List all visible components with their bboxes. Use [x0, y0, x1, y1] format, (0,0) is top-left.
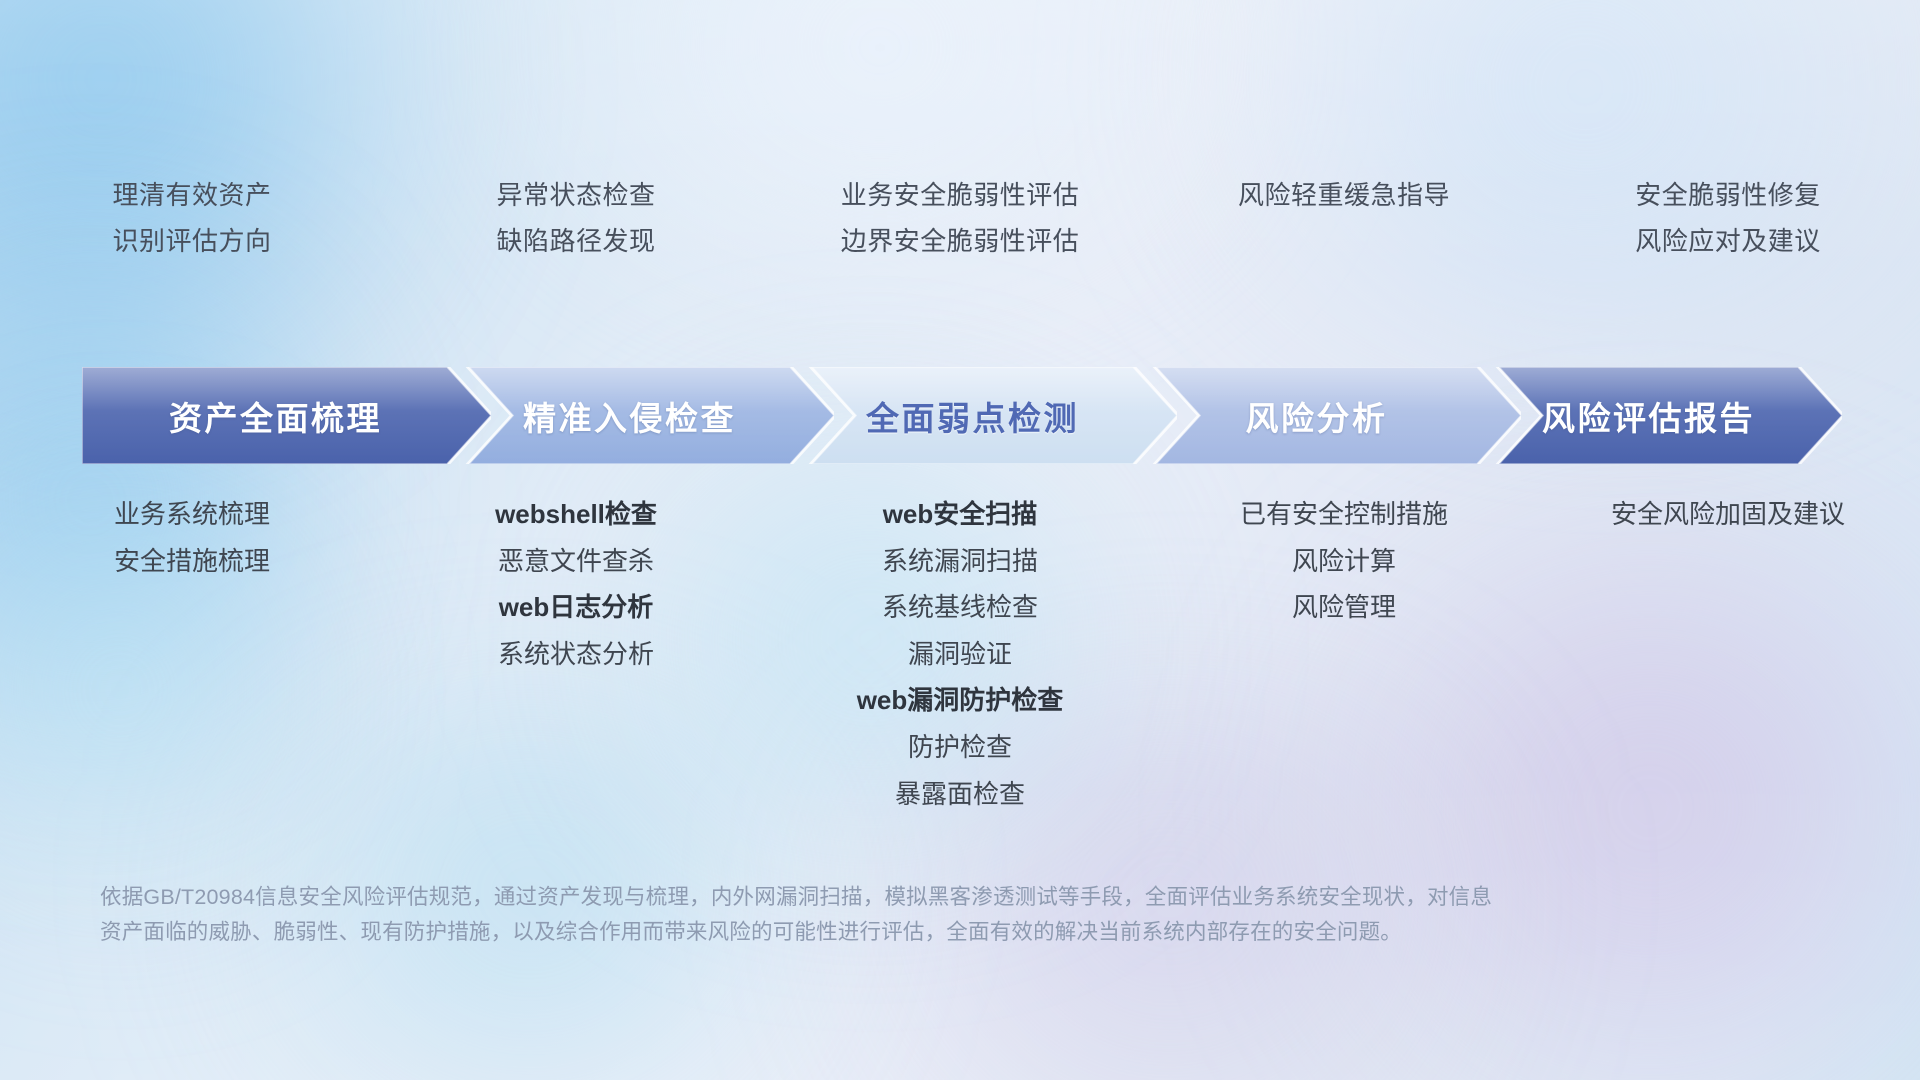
footer-line-1: 依据GB/T20984信息安全风险评估规范，通过资产发现与梳理，内外网漏洞扫描，…	[100, 880, 1660, 915]
top-caption-column-intrusion-check: 异常状态检查缺陷路径发现	[384, 182, 768, 292]
bottom-caption-item: 防护检查	[908, 733, 1012, 762]
bottom-caption-column-assessment-report: 安全风险加固及建议	[1536, 500, 1920, 529]
bottom-caption-item: 恶意文件查杀	[498, 547, 654, 576]
bottom-caption-item: web漏洞防护检查	[857, 686, 1064, 715]
top-caption-column-risk-analysis: 风险轻重缓急指导	[1152, 182, 1536, 292]
top-caption-item: 缺陷路径发现	[496, 228, 655, 254]
bottom-caption-column-risk-analysis: 已有安全控制措施风险计算风险管理	[1152, 500, 1536, 622]
bottom-caption-item: web日志分析	[499, 593, 654, 622]
stage-title: 精准入侵检查	[523, 392, 736, 440]
bottom-caption-column-intrusion-check: webshell检查恶意文件查杀web日志分析系统状态分析	[384, 500, 768, 668]
top-caption-item: 安全脆弱性修复	[1635, 182, 1821, 208]
bottom-caption-item: 安全风险加固及建议	[1611, 500, 1845, 529]
stage-title: 资产全面梳理	[169, 392, 382, 440]
top-caption-item: 异常状态检查	[496, 182, 655, 208]
stage-title: 风险分析	[1246, 392, 1388, 440]
top-caption-item: 业务安全脆弱性评估	[841, 182, 1080, 208]
top-caption-row: 理清有效资产识别评估方向异常状态检查缺陷路径发现业务安全脆弱性评估边界安全脆弱性…	[0, 182, 1920, 292]
top-caption-column-asset-inventory: 理清有效资产识别评估方向	[0, 182, 384, 292]
bottom-caption-column-weakness-detection: web安全扫描系统漏洞扫描系统基线检查漏洞验证web漏洞防护检查防护检查暴露面检…	[768, 500, 1152, 808]
top-caption-item: 理清有效资产	[112, 182, 271, 208]
bottom-caption-item: 安全措施梳理	[114, 547, 270, 576]
top-caption-item: 边界安全脆弱性评估	[841, 228, 1080, 254]
stage-title: 全面弱点检测	[866, 392, 1079, 440]
top-caption-column-weakness-detection: 业务安全脆弱性评估边界安全脆弱性评估	[768, 182, 1152, 292]
bottom-caption-item: 暴露面检查	[895, 780, 1025, 809]
process-diagram: 理清有效资产识别评估方向异常状态检查缺陷路径发现业务安全脆弱性评估边界安全脆弱性…	[0, 0, 1920, 1080]
bottom-caption-item: 业务系统梳理	[114, 500, 270, 529]
bottom-caption-row: 业务系统梳理安全措施梳理webshell检查恶意文件查杀web日志分析系统状态分…	[0, 500, 1920, 808]
footer-line-2: 资产面临的威胁、脆弱性、现有防护措施，以及综合作用而带来风险的可能性进行评估，全…	[100, 915, 1660, 950]
top-caption-column-assessment-report: 安全脆弱性修复风险应对及建议	[1536, 182, 1920, 292]
bottom-caption-item: webshell检查	[495, 500, 657, 529]
bottom-caption-column-asset-inventory: 业务系统梳理安全措施梳理	[0, 500, 384, 575]
stage-chevron-band: 资产全面梳理精准入侵检查全面弱点检测风险分析风险评估报告	[82, 367, 1842, 464]
bottom-caption-item: 系统漏洞扫描	[882, 547, 1038, 576]
bottom-caption-item: 漏洞验证	[908, 640, 1012, 669]
bottom-caption-item: web安全扫描	[883, 500, 1038, 529]
top-caption-item: 识别评估方向	[112, 228, 271, 254]
top-caption-item: 风险应对及建议	[1635, 228, 1821, 254]
bottom-caption-item: 已有安全控制措施	[1240, 500, 1448, 529]
stage-title: 风险评估报告	[1542, 392, 1755, 440]
stage-chevron-asset-inventory[interactable]: 资产全面梳理	[82, 367, 491, 464]
bottom-caption-item: 风险计算	[1292, 547, 1396, 576]
bottom-caption-item: 系统状态分析	[498, 640, 654, 669]
bottom-caption-item: 风险管理	[1292, 593, 1396, 622]
top-caption-item: 风险轻重缓急指导	[1238, 182, 1450, 208]
footer-description: 依据GB/T20984信息安全风险评估规范，通过资产发现与梳理，内外网漏洞扫描，…	[100, 880, 1660, 950]
bottom-caption-item: 系统基线检查	[882, 593, 1038, 622]
